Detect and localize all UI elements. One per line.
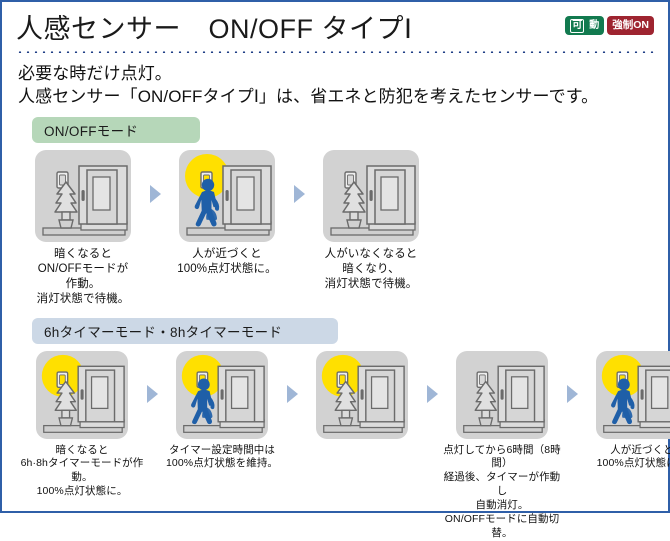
lead-line-2: 人感センサー「ON/OFFタイプⅠ」は、省エネと防犯を考えたセンサーです。: [18, 85, 652, 108]
step-panel: [596, 351, 670, 439]
caption-line: ON/OFFモードが: [24, 262, 142, 277]
scene-illustration: [36, 351, 128, 439]
step-panel: [179, 150, 275, 242]
step-onoff-mode-1: 暗くなるとON/OFFモードが作動。消灯状態で待機。: [24, 150, 142, 308]
step-arrow: [144, 383, 160, 405]
step-arrow: [564, 383, 580, 405]
step-arrow: [424, 383, 440, 405]
scene-illustration: [316, 351, 408, 439]
section-onoff-mode: ON/OFFモード 暗くなるとON/OFFモードが作動。消灯状態で待機。: [2, 113, 668, 308]
badge-movable-label: 動: [589, 21, 599, 31]
step-caption: 点灯してから6時間（8時間）経過後、タイマーが作動し自動消灯。ON/OFFモード…: [440, 444, 564, 541]
scene-illustration: [596, 351, 670, 439]
step-row-timer: 暗くなると6h·8hタイマーモードが作動。100%点灯状態に。 タイマー設定時間…: [2, 351, 668, 541]
step-caption: 人が近づくと100%点灯状態に。: [580, 444, 670, 472]
step-timer-mode-3: [300, 351, 424, 444]
step-caption: 暗くなるとON/OFFモードが作動。消灯状態で待機。: [24, 247, 142, 308]
step-panel: [35, 150, 131, 242]
play-triangle-right-icon: [147, 183, 163, 205]
page-title: 人感センサー ON/OFF タイプⅠ: [16, 7, 412, 46]
step-caption: 人がいなくなると暗くなり、消灯状態で待機。: [312, 247, 430, 293]
caption-line: 人が近づくと: [168, 247, 286, 262]
scene-illustration: [456, 351, 548, 439]
caption-line: 暗くなると: [20, 444, 144, 458]
badge-movable-boxed-label: 可: [570, 19, 584, 33]
caption-line: タイマー設定時間中は: [160, 444, 284, 458]
tree-icon: [343, 182, 365, 228]
caption-line: 100%点灯状態に。: [580, 457, 670, 471]
scene-illustration: [176, 351, 268, 439]
section-heading-timer: 6hタイマーモード・8hタイマーモード: [32, 318, 338, 344]
caption-line: 100%点灯状態を維持。: [160, 457, 284, 471]
play-triangle-right-icon: [291, 183, 307, 205]
caption-line: ON/OFFモードに自動切替。: [440, 513, 564, 541]
step-arrow: [286, 183, 312, 205]
step-panel: [36, 351, 128, 439]
caption-line: 100%点灯状態に。: [20, 485, 144, 499]
product-info-page: 人感センサー ON/OFF タイプⅠ 可 動 強制ON 必要な時だけ点灯。 人感…: [0, 0, 670, 513]
step-panel: [323, 150, 419, 242]
step-timer-mode-2: タイマー設定時間中は100%点灯状態を維持。: [160, 351, 284, 472]
step-caption: 暗くなると6h·8hタイマーモードが作動。100%点灯状態に。: [20, 444, 144, 499]
caption-line: 消灯状態で待機。: [24, 292, 142, 307]
step-timer-mode-4: 点灯してから6時間（8時間）経過後、タイマーが作動し自動消灯。ON/OFFモード…: [440, 351, 564, 541]
step-panel: [456, 351, 548, 439]
play-triangle-right-icon: [564, 383, 580, 405]
tree-icon: [55, 182, 77, 228]
step-panel: [176, 351, 268, 439]
caption-line: 経過後、タイマーが作動し: [440, 471, 564, 499]
caption-line: 100%点灯状態に。: [168, 262, 286, 277]
scene-illustration: [179, 150, 275, 242]
step-timer-mode-5: 人が近づくと100%点灯状態に。: [580, 351, 670, 472]
play-triangle-right-icon: [144, 383, 160, 405]
lead-text: 必要な時だけ点灯。 人感センサー「ON/OFFタイプⅠ」は、省エネと防犯を考えた…: [2, 53, 668, 113]
step-onoff-mode-3: 人がいなくなると暗くなり、消灯状態で待機。: [312, 150, 430, 293]
tree-icon: [475, 381, 496, 425]
page-header: 人感センサー ON/OFF タイプⅠ 可 動 強制ON: [2, 2, 668, 50]
caption-line: 消灯状態で待機。: [312, 277, 430, 292]
play-triangle-right-icon: [424, 383, 440, 405]
caption-line: 人がいなくなると: [312, 247, 430, 262]
step-caption: タイマー設定時間中は100%点灯状態を維持。: [160, 444, 284, 472]
lead-line-1: 必要な時だけ点灯。: [18, 62, 652, 85]
caption-line: 点灯してから6時間（8時間）: [440, 444, 564, 472]
step-row-onoff: 暗くなるとON/OFFモードが作動。消灯状態で待機。 人が近づくと100%点灯状…: [2, 150, 668, 308]
step-arrow: [142, 183, 168, 205]
caption-line: 人が近づくと: [580, 444, 670, 458]
scene-illustration: [323, 150, 419, 242]
caption-line: 暗くなると: [24, 247, 142, 262]
caption-line: 暗くなり、: [312, 262, 430, 277]
badge-group: 可 動 強制ON: [565, 16, 654, 35]
play-triangle-right-icon: [284, 383, 300, 405]
section-timer-mode: 6hタイマーモード・8hタイマーモード 暗くなると6h·8hタイマーモードが作動…: [2, 308, 668, 541]
badge-movable: 可 動: [565, 16, 604, 35]
section-heading-onoff: ON/OFFモード: [32, 117, 200, 143]
badge-forced-on: 強制ON: [607, 16, 654, 35]
scene-illustration: [35, 150, 131, 242]
step-arrow: [284, 383, 300, 405]
step-timer-mode-1: 暗くなると6h·8hタイマーモードが作動。100%点灯状態に。: [20, 351, 144, 499]
caption-line: 6h·8hタイマーモードが作動。: [20, 457, 144, 485]
step-panel: [316, 351, 408, 439]
step-onoff-mode-2: 人が近づくと100%点灯状態に。: [168, 150, 286, 277]
caption-line: 作動。: [24, 277, 142, 292]
caption-line: 自動消灯。: [440, 499, 564, 513]
step-caption: 人が近づくと100%点灯状態に。: [168, 247, 286, 277]
